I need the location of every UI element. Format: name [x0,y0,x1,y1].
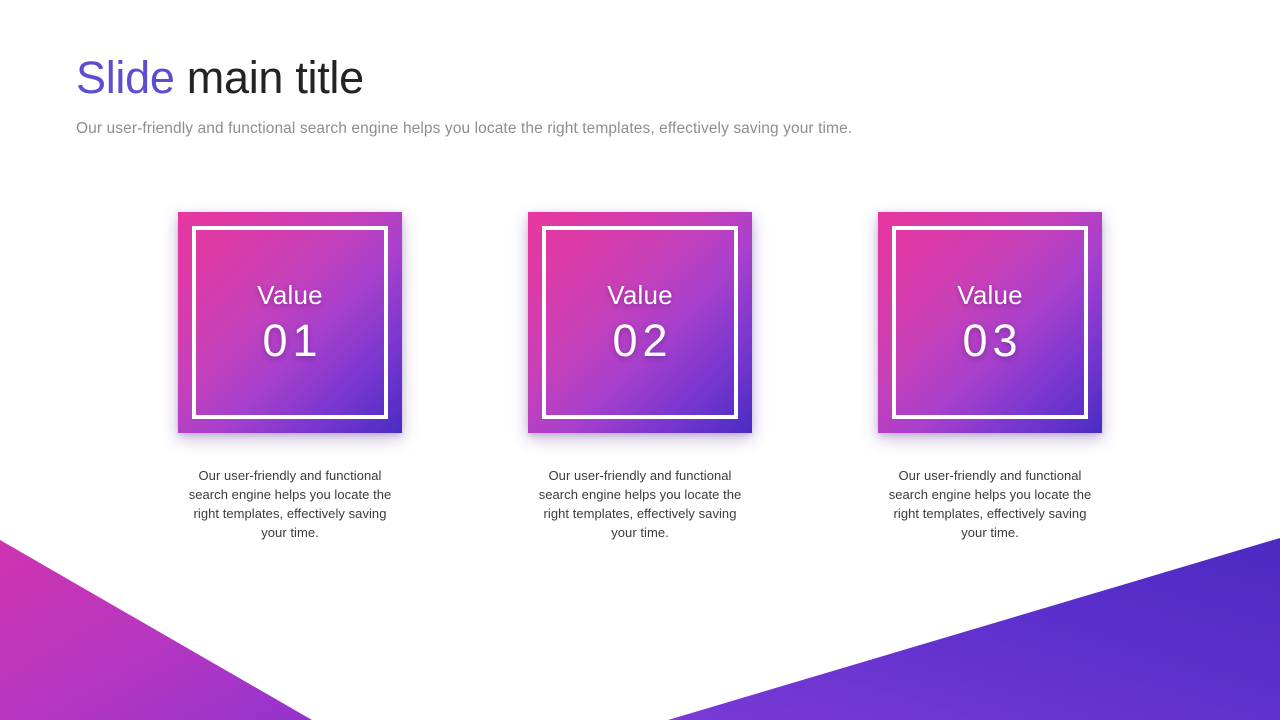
decorative-triangle-right [668,538,1280,720]
value-tile-01[interactable]: Value 01 [178,212,402,433]
value-tile-number-01: 01 [178,315,402,367]
value-tile-text-01: Value 01 [178,279,402,367]
value-tile-03[interactable]: Value 03 [878,212,1102,433]
decorative-triangle-left [0,540,312,720]
page-title-rest: main title [175,52,364,103]
value-tile-label-01: Value [178,279,402,311]
slide-header: Slide main title Our user-friendly and f… [76,50,1206,140]
value-card-caption-01: Our user-friendly and functional search … [178,466,402,542]
value-tile-02[interactable]: Value 02 [528,212,752,433]
page-subtitle: Our user-friendly and functional search … [76,118,1206,140]
slide-canvas: Slide main title Our user-friendly and f… [0,0,1280,720]
value-tile-text-02: Value 02 [528,279,752,367]
value-card-02[interactable]: Value 02 Our user-friendly and functiona… [528,212,752,542]
value-card-caption-02: Our user-friendly and functional search … [528,466,752,542]
value-card-caption-03: Our user-friendly and functional search … [878,466,1102,542]
value-cards-row: Value 01 Our user-friendly and functiona… [178,212,1102,552]
value-card-01[interactable]: Value 01 Our user-friendly and functiona… [178,212,402,542]
value-tile-number-02: 02 [528,315,752,367]
value-tile-label-02: Value [528,279,752,311]
page-title-accent: Slide [76,52,175,103]
page-title: Slide main title [76,50,1206,106]
value-tile-text-03: Value 03 [878,279,1102,367]
value-card-03[interactable]: Value 03 Our user-friendly and functiona… [878,212,1102,542]
value-tile-label-03: Value [878,279,1102,311]
value-tile-number-03: 03 [878,315,1102,367]
